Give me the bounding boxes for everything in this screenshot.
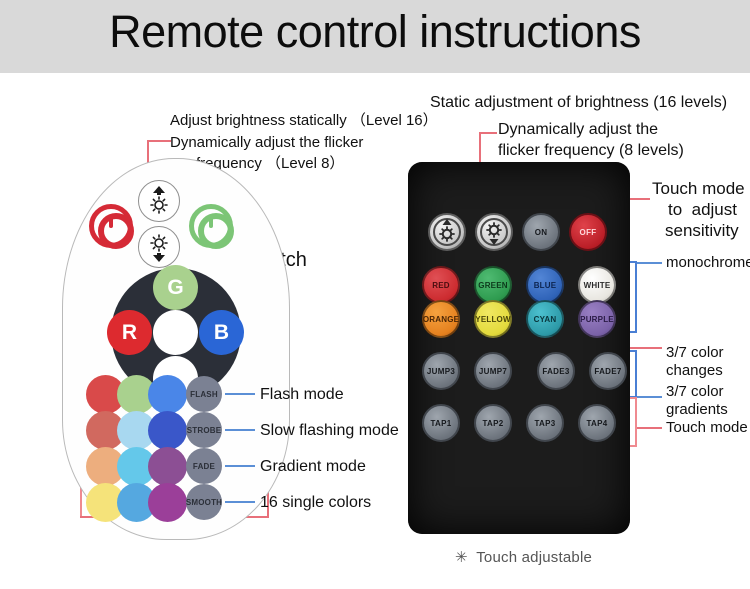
left-mode-flash-button[interactable]: FLASH (186, 376, 222, 412)
left-leader-flash (225, 393, 255, 395)
right-label-monochrome: monochrome (666, 254, 750, 273)
right-label-touch-mode: Touch mode (666, 419, 748, 438)
left-mode-smooth-button[interactable]: SMOOTH (186, 484, 222, 520)
left-label-flicker-line1: Dynamically adjust the flicker (170, 134, 363, 153)
right-color-white-button[interactable]: WHITE (578, 266, 616, 304)
brightness-down-icon (477, 215, 511, 249)
right-label-color-changes-2: changes (666, 362, 723, 381)
right-off-button[interactable]: OFF (569, 213, 607, 251)
left-leader-flicker-h (147, 140, 171, 142)
right-leader-fade (637, 396, 662, 398)
left-swatch[interactable] (148, 375, 187, 414)
right-tap4-button[interactable]: TAP4 (578, 404, 616, 442)
left-power-on-button[interactable] (189, 204, 233, 248)
right-jump7-button[interactable]: JUMP7 (474, 352, 512, 390)
right-color-yellow-button[interactable]: YELLOW (474, 300, 512, 338)
right-label-flicker-line1: Dynamically adjust the (498, 120, 658, 140)
right-label-brightness-static: Static adjustment of brightness (16 leve… (430, 93, 727, 113)
power-ring-icon (198, 213, 234, 249)
right-color-green-button[interactable]: GREEN (474, 266, 512, 304)
left-leader-smooth (225, 501, 255, 503)
right-label-touch-sens-3: sensitivity (665, 220, 739, 241)
right-label-touch-sens-2: to adjust (668, 199, 737, 220)
right-footnote: ✳ Touch adjustable (455, 548, 592, 566)
wheel-key-center[interactable] (153, 310, 198, 355)
right-fade7-button[interactable]: FADE7 (589, 352, 627, 390)
right-leader-monochrome (637, 262, 662, 264)
right-brightness-down-button[interactable] (475, 213, 513, 251)
right-label-color-changes-1: 3/7 color (666, 344, 724, 363)
brightness-up-icon (430, 215, 464, 249)
right-leader-tap (637, 427, 662, 429)
right-fade3-button[interactable]: FADE3 (537, 352, 575, 390)
left-label-flash-mode: Flash mode (260, 385, 344, 405)
brightness-down-icon (139, 227, 179, 267)
power-ring-icon (98, 213, 134, 249)
right-tap1-button[interactable]: TAP1 (422, 404, 460, 442)
left-leader-fade (225, 465, 255, 467)
right-label-color-gradients-2: gradients (666, 401, 728, 420)
right-label-touch-sens-1: Touch mode (652, 178, 745, 199)
right-color-orange-button[interactable]: ORANGE (422, 300, 460, 338)
right-color-red-button[interactable]: RED (422, 266, 460, 304)
wheel-key-r[interactable]: R (107, 310, 152, 355)
left-label-single-colors: 16 single colors (260, 493, 371, 513)
page-root: Remote control instructions Adjust brigh… (0, 0, 750, 589)
left-brightness-up-button[interactable] (138, 180, 180, 222)
left-mode-strobe-button[interactable]: STROBE (186, 412, 222, 448)
right-label-flicker-line2: flicker frequency (8 levels) (498, 141, 684, 161)
left-power-off-button[interactable] (89, 204, 133, 248)
power-bar-icon (109, 216, 113, 228)
left-mode-fade-button[interactable]: FADE (186, 448, 222, 484)
wheel-key-b[interactable]: B (199, 310, 244, 355)
wheel-key-g[interactable]: G (153, 265, 198, 310)
right-color-purple-button[interactable]: PURPLE (578, 300, 616, 338)
left-swatch[interactable] (148, 447, 187, 486)
right-on-button[interactable]: ON (522, 213, 560, 251)
page-title: Remote control instructions (0, 6, 750, 58)
right-color-blue-button[interactable]: BLUE (526, 266, 564, 304)
right-brightness-up-button[interactable] (428, 213, 466, 251)
left-swatch[interactable] (148, 483, 187, 522)
left-label-gradient-mode: Gradient mode (260, 457, 366, 477)
brightness-up-icon (139, 181, 179, 221)
left-brightness-down-button[interactable] (138, 226, 180, 268)
power-bar-icon (209, 216, 213, 228)
left-swatch[interactable] (148, 411, 187, 450)
right-tap3-button[interactable]: TAP3 (526, 404, 564, 442)
right-leader-flicker-h (479, 132, 497, 134)
left-leader-strobe (225, 429, 255, 431)
right-tap2-button[interactable]: TAP2 (474, 404, 512, 442)
right-jump3-button[interactable]: JUMP3 (422, 352, 460, 390)
right-color-cyan-button[interactable]: CYAN (526, 300, 564, 338)
right-label-color-gradients-1: 3/7 color (666, 383, 724, 402)
left-label-slow-flashing-mode: Slow flashing mode (260, 421, 399, 441)
left-label-brightness-static: Adjust brightness statically （Level 16） (170, 112, 438, 131)
